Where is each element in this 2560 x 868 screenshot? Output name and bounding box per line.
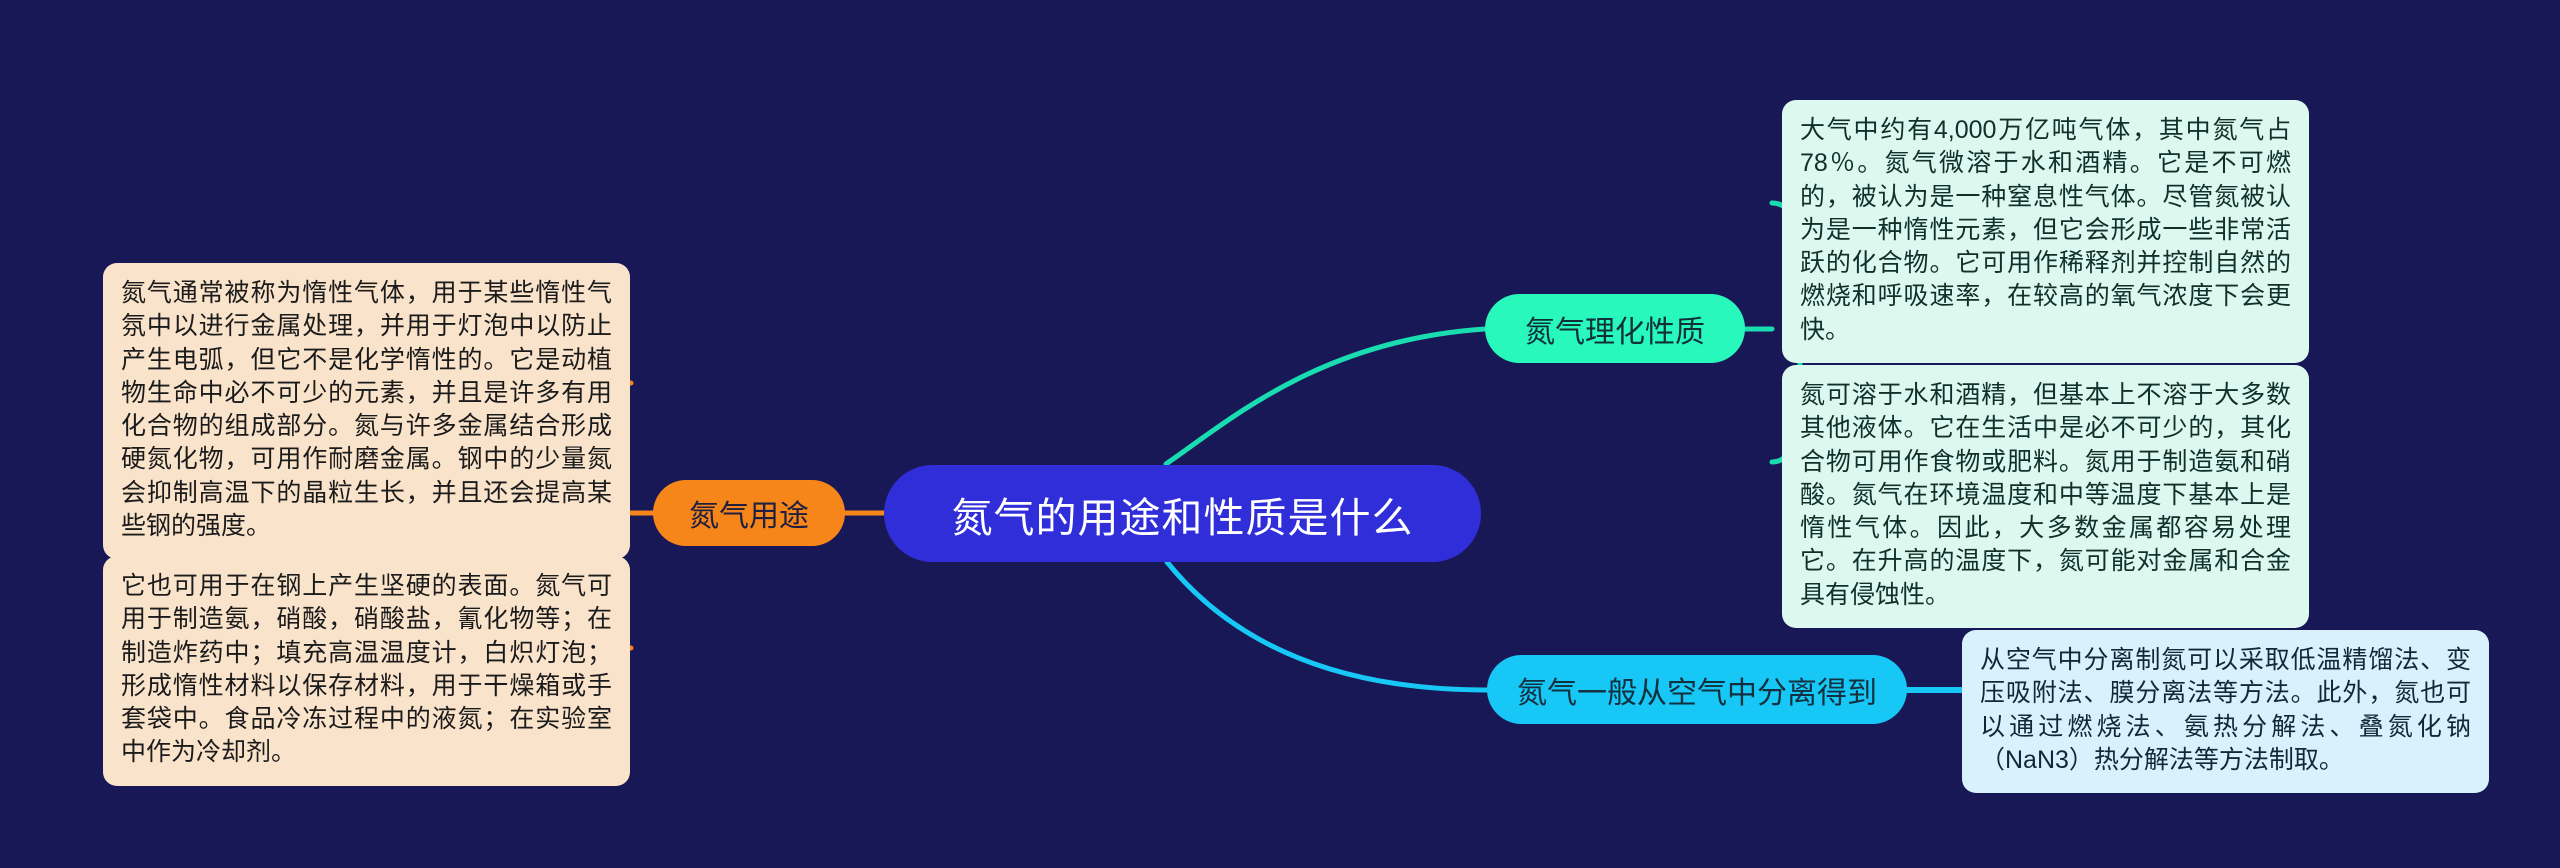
leaf-card-properties-2[interactable]: 氮可溶于水和酒精，但基本上不溶于大多数其他液体。它在生活中是必不可少的，其化合物… [1782, 365, 2309, 628]
mindmap-canvas: 氮气的用途和性质是什么 氮气用途 氮气理化性质 氮气一般从空气中分离得到 氮气通… [0, 0, 2560, 868]
leaf-card-properties-1[interactable]: 大气中约有4,000万亿吨气体，其中氮气占78％。氮气微溶于水和酒精。它是不可燃… [1782, 100, 2309, 363]
root-node[interactable]: 氮气的用途和性质是什么 [884, 465, 1481, 562]
branch-node-properties[interactable]: 氮气理化性质 [1485, 294, 1745, 363]
leaf-card-separation-1[interactable]: 从空气中分离制氮可以采取低温精馏法、变压吸附法、膜分离法等方法。此外，氮也可以通… [1962, 630, 2489, 793]
connector-root-to-separation [1167, 562, 1487, 690]
leaf-card-uses-1[interactable]: 氮气通常被称为惰性气体，用于某些惰性气氛中以进行金属处理，并用于灯泡中以防止产生… [103, 263, 630, 559]
connector-root-to-properties [1166, 329, 1485, 464]
branch-node-uses[interactable]: 氮气用途 [653, 480, 845, 546]
branch-node-separation[interactable]: 氮气一般从空气中分离得到 [1487, 655, 1907, 724]
leaf-card-uses-2[interactable]: 它也可用于在钢上产生坚硬的表面。氮气可用于制造氨，硝酸，硝酸盐，氰化物等；在制造… [103, 556, 630, 786]
